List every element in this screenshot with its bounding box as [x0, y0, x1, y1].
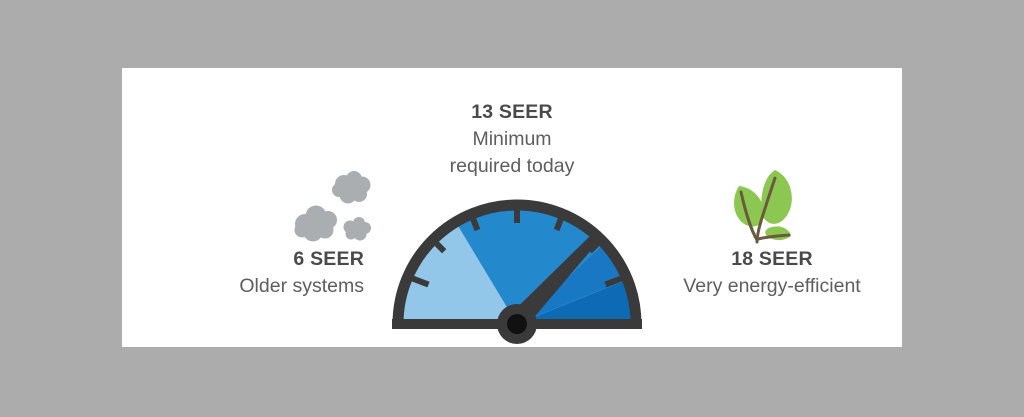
smoke-puffs-icon — [290, 166, 390, 246]
seer-gauge — [384, 194, 654, 344]
left-label-block: 6 SEER Older systems — [122, 246, 364, 300]
center-seer-desc-line1: Minimum — [122, 126, 902, 153]
right-label-block: 18 SEER Very energy-efficient — [642, 246, 902, 300]
infographic-card: 13 SEER Minimum required today — [122, 68, 902, 347]
left-seer-value: 6 SEER — [122, 246, 364, 273]
leaf-sprig-icon — [717, 160, 807, 248]
right-seer-desc: Very energy-efficient — [642, 273, 902, 300]
right-seer-value: 18 SEER — [642, 246, 902, 273]
left-seer-desc: Older systems — [122, 273, 364, 300]
gauge-hub-center — [507, 314, 527, 334]
center-seer-value: 13 SEER — [122, 99, 902, 126]
